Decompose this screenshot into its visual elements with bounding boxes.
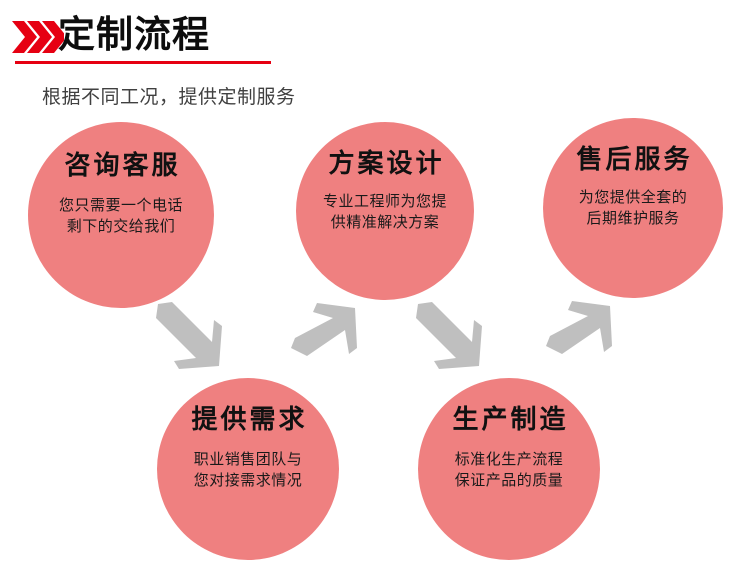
arrow-down-right-icon (410, 300, 488, 378)
flow-node-description: 您只需要一个电话 剩下的交给我们 (59, 195, 183, 239)
process-flow-diagram: 咨询客服 您只需要一个电话 剩下的交给我们 方案设计 专业工程师为您提 供精准解… (0, 0, 750, 576)
customization-process-infographic: 定制流程 根据不同工况，提供定制服务 咨询 (0, 0, 750, 576)
flow-node-description: 标准化生产流程 保证产品的质量 (455, 449, 564, 493)
flow-node-description-line-2: 后期维护服务 (579, 208, 688, 230)
flow-node-solution-design[interactable]: 方案设计 专业工程师为您提 供精准解决方案 (296, 122, 474, 300)
flow-node-description-line-1: 职业销售团队与 (194, 449, 303, 471)
flow-node-description-line-2: 您对接需求情况 (194, 470, 303, 492)
flow-node-description-line-1: 为您提供全套的 (579, 187, 688, 209)
flow-node-title: 生产制造 (449, 406, 568, 435)
flow-node-title: 方案设计 (325, 150, 444, 179)
flow-node-description-line-2: 剩下的交给我们 (59, 216, 183, 238)
flow-node-title: 售后服务 (573, 146, 692, 175)
flow-node-production-manufacturing[interactable]: 生产制造 标准化生产流程 保证产品的质量 (418, 378, 600, 560)
flow-node-description: 职业销售团队与 您对接需求情况 (194, 449, 303, 493)
arrow-up-right-icon (540, 298, 618, 376)
flow-node-description: 为您提供全套的 后期维护服务 (579, 187, 688, 231)
flow-node-consult-service[interactable]: 咨询客服 您只需要一个电话 剩下的交给我们 (28, 122, 214, 308)
flow-node-provide-requirements[interactable]: 提供需求 职业销售团队与 您对接需求情况 (157, 378, 339, 560)
flow-node-description: 专业工程师为您提 供精准解决方案 (323, 191, 447, 235)
flow-node-after-sales-service[interactable]: 售后服务 为您提供全套的 后期维护服务 (543, 118, 723, 298)
flow-node-description-line-2: 保证产品的质量 (455, 470, 564, 492)
arrow-up-right-icon (285, 300, 363, 378)
flow-node-description-line-1: 您只需要一个电话 (59, 195, 183, 217)
flow-node-title: 咨询客服 (61, 152, 180, 181)
flow-node-title: 提供需求 (188, 406, 307, 435)
flow-node-description-line-2: 供精准解决方案 (323, 212, 447, 234)
flow-node-description-line-1: 标准化生产流程 (455, 449, 564, 471)
arrow-down-right-icon (150, 300, 228, 378)
flow-node-description-line-1: 专业工程师为您提 (323, 191, 447, 213)
